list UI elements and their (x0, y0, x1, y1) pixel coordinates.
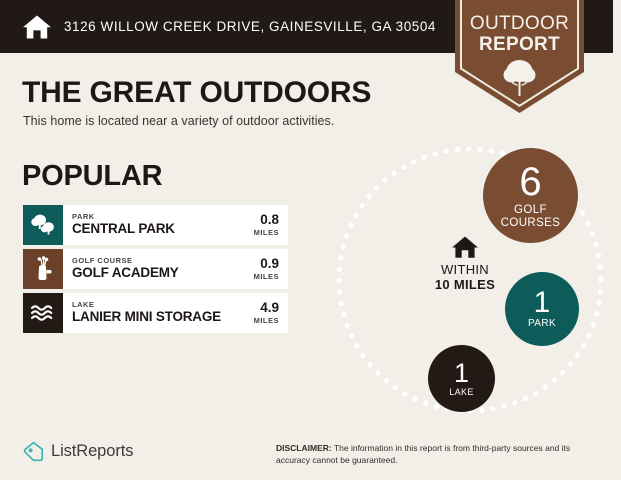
list-item-distance-unit: MILES (254, 272, 279, 281)
list-item-category: GOLF COURSE (72, 257, 254, 265)
list-item-name: LANIER MINI STORAGE (72, 309, 254, 325)
list-item[interactable]: LAKE LANIER MINI STORAGE 4.9 MILES (23, 293, 288, 333)
list-item-distance-unit: MILES (254, 316, 279, 325)
list-item-distance-value: 0.9 (260, 257, 279, 272)
page-subtitle: This home is located near a variety of o… (23, 114, 334, 128)
bubble-golf-courses[interactable]: 6 GOLF COURSES (483, 148, 578, 243)
bubble-golf-label-line1: GOLF (514, 204, 547, 216)
center-label-line2: 10 MILES (405, 278, 525, 293)
list-item-distance: 4.9 MILES (254, 293, 288, 333)
listreports-logo[interactable]: ListReports (22, 440, 133, 462)
outdoor-report-badge: OUTDOOR REPORT (455, 0, 584, 113)
bubble-lake-count: 1 (454, 360, 469, 387)
list-item-distance-value: 4.9 (260, 301, 279, 316)
list-item-name: GOLF ACADEMY (72, 265, 254, 281)
section-title-popular: POPULAR (22, 160, 162, 193)
list-item-distance: 0.8 MILES (254, 205, 288, 245)
disclaimer: DISCLAIMER: The information in this repo… (276, 442, 594, 467)
bubble-park-count: 1 (534, 288, 551, 318)
bubble-golf-count: 6 (519, 162, 541, 202)
list-item-name: CENTRAL PARK (72, 221, 254, 237)
bubble-golf-label-line2: COURSES (501, 217, 561, 229)
disclaimer-label: DISCLAIMER: (276, 443, 332, 453)
within-10-miles-diagram: 6 GOLF COURSES 1 PARK 1 LAKE WITHIN 10 M… (320, 130, 610, 420)
bubble-lake-label: LAKE (449, 388, 474, 398)
popular-places-list: PARK CENTRAL PARK 0.8 MILES (23, 205, 288, 337)
list-item-category: PARK (72, 213, 254, 221)
home-icon (20, 12, 54, 42)
center-label-line1: WITHIN (405, 263, 525, 278)
bubble-park-label: PARK (528, 319, 556, 330)
outdoor-report-page: 3126 WILLOW CREEK DRIVE, GAINESVILLE, GA… (0, 0, 621, 480)
golf-bag-icon (23, 249, 63, 289)
bubble-lake[interactable]: 1 LAKE (428, 345, 495, 412)
home-icon (405, 235, 525, 259)
property-address: 3126 WILLOW CREEK DRIVE, GAINESVILLE, GA… (64, 19, 436, 34)
list-item-texts: PARK CENTRAL PARK (63, 205, 254, 245)
listreports-logo-text: ListReports (51, 442, 133, 461)
list-item-distance-unit: MILES (254, 228, 279, 237)
list-item-distance-value: 0.8 (260, 213, 279, 228)
list-item-texts: GOLF COURSE GOLF ACADEMY (63, 249, 254, 289)
listreports-house-tag-icon (22, 440, 44, 462)
park-trees-icon (23, 205, 63, 245)
list-item-distance: 0.9 MILES (254, 249, 288, 289)
page-title: THE GREAT OUTDOORS (22, 76, 371, 110)
list-item-texts: LAKE LANIER MINI STORAGE (63, 293, 254, 333)
list-item-category: LAKE (72, 301, 254, 309)
list-item[interactable]: PARK CENTRAL PARK 0.8 MILES (23, 205, 288, 245)
list-item[interactable]: GOLF COURSE GOLF ACADEMY 0.9 MILES (23, 249, 288, 289)
diagram-center-label: WITHIN 10 MILES (405, 235, 525, 293)
water-waves-icon (23, 293, 63, 333)
